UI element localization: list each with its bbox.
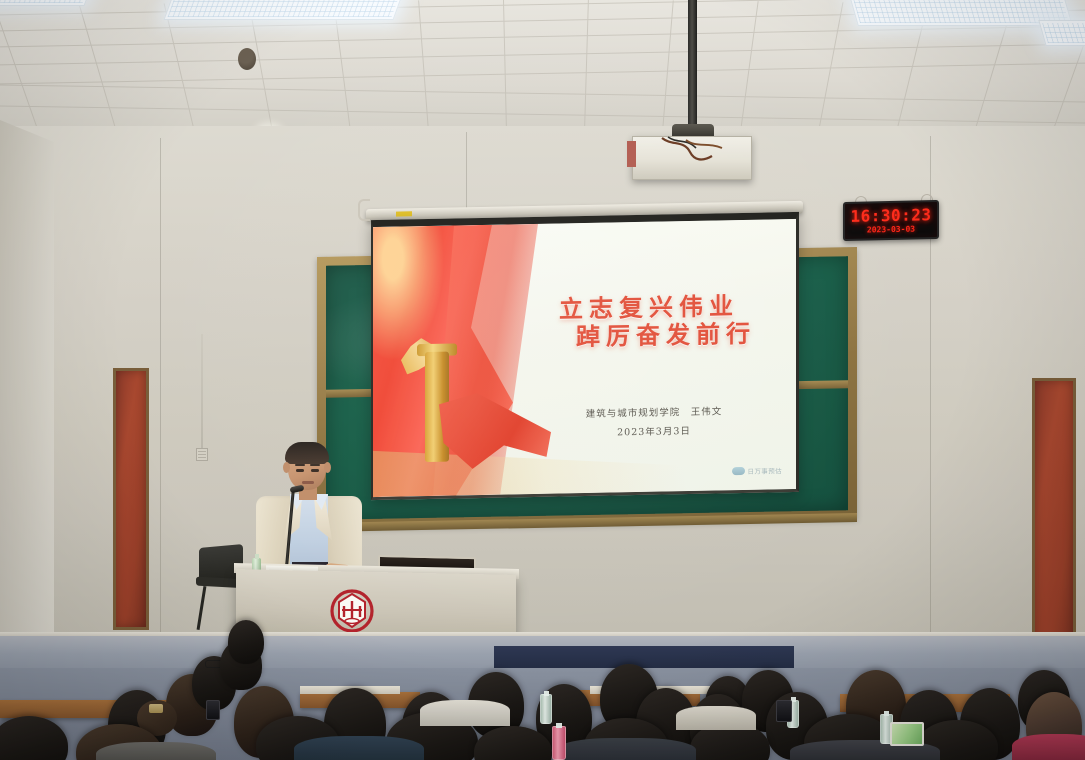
slide-watermark-logo: 日万事预估 [732, 465, 783, 476]
slide-subtitle-block: 建筑与城市规划学院 王伟文 2023年3月3日 [523, 401, 785, 445]
clock-date: 2023-03-03 [845, 224, 937, 235]
door-left[interactable] [113, 368, 149, 630]
housing-sticker [396, 211, 412, 216]
screen-pull-hook-icon [358, 199, 370, 221]
audience-shoulders [676, 706, 756, 730]
eyebrow-right [310, 464, 320, 466]
panel-light [163, 0, 406, 20]
tablet-screen[interactable] [890, 722, 924, 746]
mouth [302, 481, 314, 484]
wall-seam [160, 138, 161, 638]
eyebrow-left [295, 464, 305, 466]
smoke-detector-icon [238, 48, 256, 70]
smartphone[interactable] [776, 700, 792, 722]
projection-screen: 立志复兴伟业 踔厉奋发前行 建筑与城市规划学院 王伟文 2023年3月3日 日万… [371, 212, 799, 500]
ceiling [0, 0, 1085, 132]
panel-light [1038, 20, 1085, 46]
lecture-hall-scene: 立志复兴伟业 踔厉奋发前行 建筑与城市规划学院 王伟文 2023年3月3日 日万… [0, 0, 1085, 760]
door-right[interactable] [1032, 378, 1076, 664]
panel-light [0, 0, 96, 6]
audience-head [228, 620, 264, 664]
ear-right [324, 462, 331, 473]
cable-junction-box [196, 448, 208, 461]
audience-shoulders [556, 738, 696, 760]
slide-title: 立志复兴伟业 踔厉奋发前行 [513, 291, 785, 353]
audience-shoulders [96, 742, 216, 760]
ear-left [283, 462, 290, 473]
audience-shoulders [420, 700, 510, 726]
water-bottle [552, 726, 566, 760]
presenter [252, 442, 364, 578]
slide-date: 2023年3月3日 [523, 421, 785, 445]
logo-mark-icon [732, 467, 745, 475]
eye-left [296, 469, 304, 472]
clock-time: 16:30:23 [845, 205, 937, 226]
audience-shoulders [294, 736, 424, 760]
digital-wall-clock: 16:30:23 2023-03-03 [843, 200, 939, 241]
projector-wires-icon [656, 136, 732, 166]
audience-shoulders [1012, 734, 1085, 760]
hair-clip-icon [149, 704, 163, 713]
smartphone[interactable] [206, 700, 220, 720]
hair [285, 442, 329, 464]
projector-pole [688, 0, 697, 126]
eye-right [311, 469, 319, 472]
water-bottle [540, 694, 552, 724]
slide-title-line-2: 踔厉奋发前行 [513, 319, 785, 353]
hanging-cable [201, 334, 203, 448]
university-emblem-icon [330, 589, 374, 633]
left-wall [0, 120, 54, 660]
presentation-slide: 立志复兴伟业 踔厉奋发前行 建筑与城市规划学院 王伟文 2023年3月3日 日万… [373, 219, 796, 497]
logo-text: 日万事预估 [748, 465, 783, 476]
